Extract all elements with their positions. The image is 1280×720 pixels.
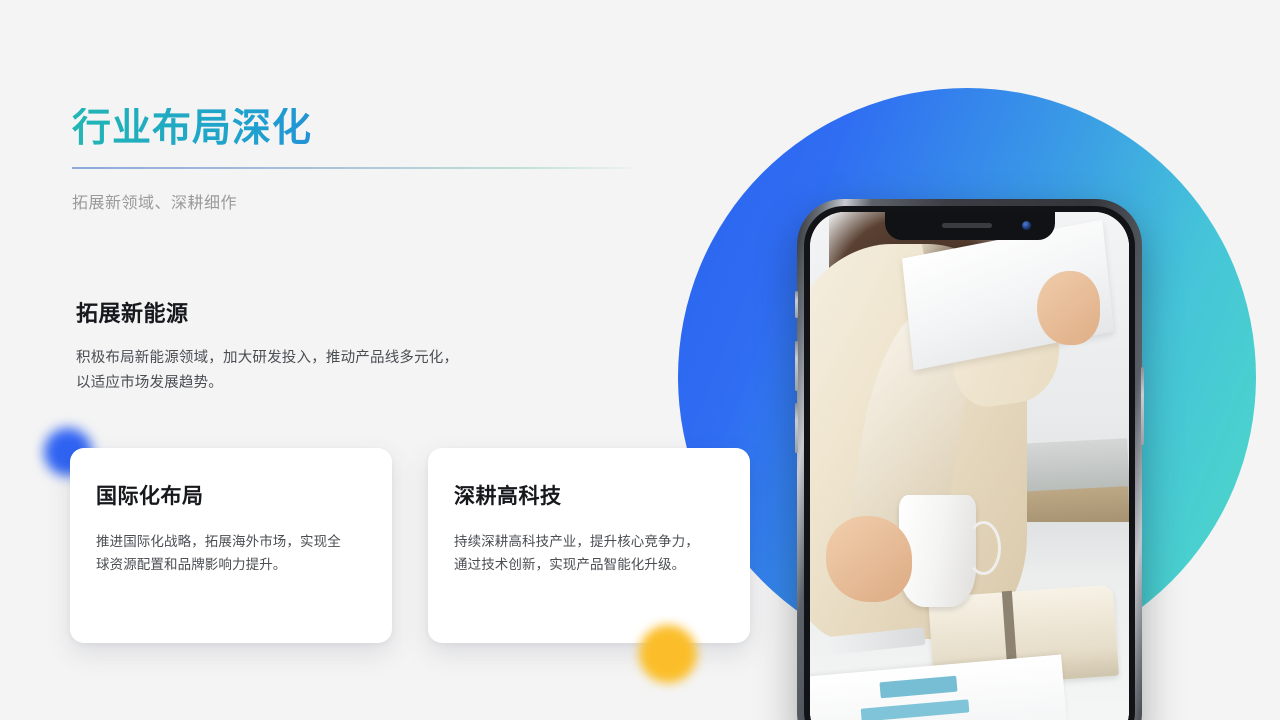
card-body-line-2: 球资源配置和品牌影响力提升。: [96, 553, 366, 576]
feature-card-hightech[interactable]: 深耕高科技 持续深耕高科技产业，提升核心竞争力， 通过技术创新，实现产品智能化升…: [428, 448, 750, 643]
card-body-line-2: 通过技术创新，实现产品智能化升级。: [454, 553, 724, 576]
photo-hand-holding-mug: [826, 516, 912, 601]
phone-earpiece-speaker-icon: [942, 223, 992, 228]
card-body-line-1: 推进国际化战略，拓展海外市场，实现全: [96, 530, 366, 553]
photo-mug-handle: [966, 521, 1001, 575]
phone-bezel: [804, 206, 1135, 720]
card-title: 深耕高科技: [454, 480, 724, 510]
card-title: 国际化布局: [96, 480, 366, 510]
lead-body-line-2: 以适应市场发展趋势。: [76, 371, 556, 396]
phone-front-camera-icon: [1022, 221, 1031, 230]
page-subtitle: 拓展新领域、深耕细作: [72, 189, 632, 213]
phone-volume-down-button[interactable]: [795, 403, 798, 453]
card-body-line-1: 持续深耕高科技产业，提升核心竞争力，: [454, 530, 724, 553]
feature-card-international[interactable]: 国际化布局 推进国际化战略，拓展海外市场，实现全 球资源配置和品牌影响力提升。: [70, 448, 392, 643]
lead-body: 积极布局新能源领域，加大研发投入，推动产品线多元化， 以适应市场发展趋势。: [76, 346, 556, 397]
yellow-blob-decoration: [639, 625, 697, 683]
title-divider: [72, 167, 632, 169]
phone-power-button[interactable]: [1141, 367, 1144, 445]
phone-mockup: [797, 199, 1142, 720]
feature-card-list: 国际化布局 推进国际化战略，拓展海外市场，实现全 球资源配置和品牌影响力提升。 …: [70, 448, 750, 643]
page-title: 行业布局深化: [72, 108, 632, 151]
lead-body-line-1: 积极布局新能源领域，加大研发投入，推动产品线多元化，: [76, 346, 556, 371]
lead-heading: 拓展新能源: [76, 296, 556, 328]
screen-photo: [810, 212, 1129, 720]
phone-mute-switch[interactable]: [795, 291, 798, 318]
phone-screen: [810, 212, 1129, 720]
slide-root: 行业布局深化 拓展新领域、深耕细作 拓展新能源 积极布局新能源领域，加大研发投入…: [0, 0, 1280, 720]
phone-notch: [885, 212, 1055, 240]
photo-hand-holding-paper: [1037, 271, 1101, 346]
phone-volume-up-button[interactable]: [795, 341, 798, 391]
card-body: 持续深耕高科技产业，提升核心竞争力， 通过技术创新，实现产品智能化升级。: [454, 530, 724, 576]
card-body: 推进国际化战略，拓展海外市场，实现全 球资源配置和品牌影响力提升。: [96, 530, 366, 576]
header: 行业布局深化 拓展新领域、深耕细作: [72, 108, 632, 213]
lead-block: 拓展新能源 积极布局新能源领域，加大研发投入，推动产品线多元化， 以适应市场发展…: [76, 296, 556, 397]
